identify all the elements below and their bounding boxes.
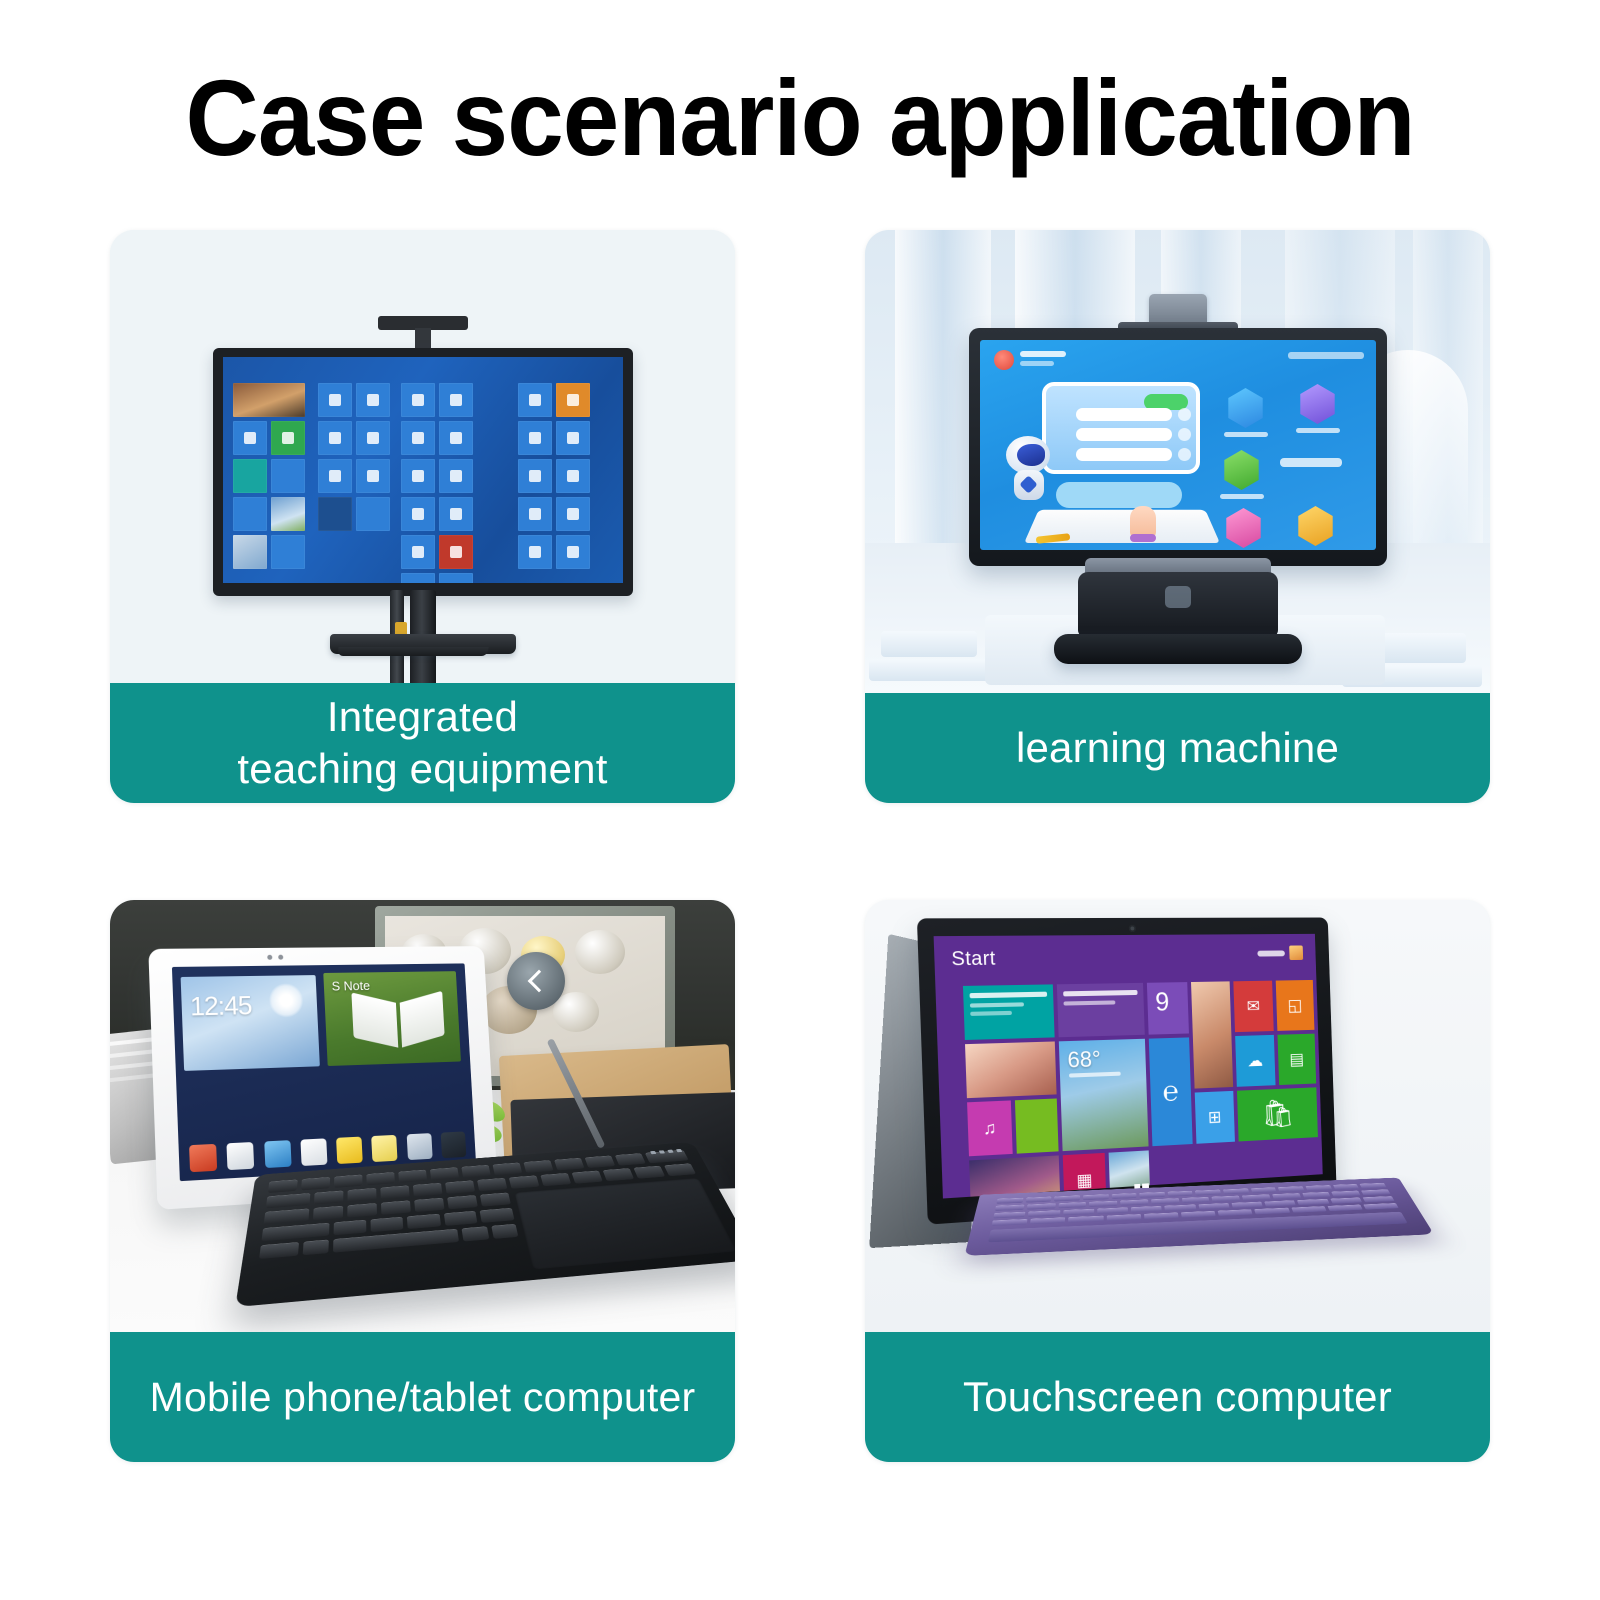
tile — [518, 383, 552, 417]
photo-learning-machine — [865, 230, 1490, 693]
pebble-decor — [575, 930, 625, 974]
tile — [401, 497, 435, 531]
tile-app: ⊞ — [1194, 1091, 1235, 1144]
tile-app — [1014, 1098, 1058, 1153]
astronaut-mascot-icon — [1000, 436, 1058, 506]
caption-mobile-phone-tablet-computer: Mobile phone/tablet computer — [110, 1332, 735, 1462]
tile — [271, 421, 305, 455]
pebble-decor — [553, 992, 599, 1032]
tile — [318, 497, 352, 531]
tile-photos — [1191, 981, 1234, 1088]
tile — [518, 421, 552, 455]
app-icon — [264, 1140, 291, 1168]
learning-machine-device — [969, 328, 1387, 566]
tile — [318, 459, 352, 493]
tile-internet-explorer: ℮ — [1149, 1037, 1192, 1146]
front-camera-icon — [1129, 925, 1136, 932]
quiz-option — [1076, 408, 1172, 421]
scene-teaching-display — [110, 230, 735, 683]
trackpad — [514, 1177, 735, 1269]
quiz-option — [1076, 428, 1172, 441]
tile-group-1 — [233, 383, 309, 571]
tile — [318, 421, 352, 455]
user-name-placeholder — [1257, 950, 1285, 956]
app-icon — [406, 1133, 432, 1160]
tile — [439, 497, 473, 531]
photo-mobile-phone-tablet-computer: 12:45 S Note — [110, 900, 735, 1332]
tile-app: ♫ — [967, 1100, 1012, 1156]
app-icon — [189, 1144, 217, 1172]
tile-calendar: 9 — [1147, 982, 1189, 1035]
caption-line-1: learning machine — [1016, 722, 1339, 774]
caption-line-1: Mobile phone/tablet computer — [150, 1371, 696, 1423]
photo-touchscreen-computer: Start — [865, 900, 1490, 1332]
app-icon — [441, 1131, 467, 1158]
stand-foot — [1054, 634, 1302, 664]
tile — [233, 421, 267, 455]
tile-store: 🛍 — [1237, 1087, 1318, 1141]
tile — [356, 383, 390, 417]
tile-group-3 — [401, 383, 509, 571]
caption-line-1: Integrated — [237, 691, 607, 743]
s-note-widget: S Note — [323, 971, 461, 1066]
user-subtitle-placeholder — [1020, 361, 1054, 366]
tile — [233, 535, 267, 569]
scene-tablet-keyboard: 12:45 S Note — [110, 900, 735, 1332]
app-label-placeholder — [1220, 494, 1264, 499]
card-mobile-phone-tablet-computer[interactable]: 12:45 S Note — [110, 900, 735, 1462]
tile-onedrive: ☁ — [1235, 1035, 1275, 1087]
caption-integrated-teaching-equipment: Integrated teaching equipment — [110, 683, 735, 803]
tile — [518, 459, 552, 493]
tile — [518, 497, 552, 531]
tile — [556, 497, 590, 531]
cart-shelf — [330, 634, 516, 654]
app-hex-icon — [1296, 506, 1336, 546]
tablet-screen: 12:45 S Note — [172, 963, 476, 1181]
tile — [271, 497, 305, 531]
tile — [233, 383, 305, 417]
user-avatar — [994, 350, 1014, 370]
photo-integrated-teaching-equipment — [110, 230, 735, 683]
tile-app: ▤ — [1277, 1034, 1316, 1085]
s-note-label: S Note — [331, 978, 370, 993]
front-camera-icon — [267, 955, 291, 960]
app-label-placeholder — [1224, 432, 1268, 437]
tile-grid — [233, 383, 615, 571]
display-screen — [223, 357, 623, 583]
page-title: Case scenario application — [48, 58, 1552, 178]
app-hex-icon — [1222, 450, 1262, 490]
tile — [401, 573, 435, 583]
app-hex-icon — [1224, 508, 1264, 548]
tile — [518, 535, 552, 569]
surface-tablet-device: Start — [917, 918, 1337, 1225]
app-label-placeholder — [1296, 428, 1340, 433]
tile — [401, 383, 435, 417]
tile — [356, 459, 390, 493]
sun-icon — [268, 983, 303, 1018]
tile — [439, 535, 473, 569]
section-title-placeholder — [1280, 458, 1342, 467]
tile — [439, 383, 473, 417]
keyboard-left-keys — [254, 1193, 525, 1295]
status-bar-placeholder — [1288, 352, 1364, 359]
tile — [271, 535, 305, 569]
tile — [401, 535, 435, 569]
tile-news — [963, 984, 1055, 1040]
quiz-option — [1076, 448, 1172, 461]
user-account-area — [1257, 945, 1303, 960]
tile — [439, 421, 473, 455]
tile — [356, 421, 390, 455]
case-scenario-page: Case scenario application — [0, 0, 1600, 1600]
tile-people — [965, 1041, 1057, 1098]
flat-panel-display — [213, 348, 633, 596]
quiz-card — [1042, 382, 1200, 474]
app-icon — [336, 1137, 363, 1164]
scene-surface-tablet: Start — [865, 900, 1490, 1332]
avatar — [1289, 945, 1303, 960]
app-icon — [227, 1142, 255, 1170]
tile — [401, 459, 435, 493]
start-screen-title: Start — [951, 948, 996, 971]
tile — [556, 459, 590, 493]
clock-time: 12:45 — [189, 990, 252, 1023]
card-touchscreen-computer[interactable]: Start — [865, 900, 1490, 1462]
tile — [318, 383, 352, 417]
tile-app: ✉ — [1233, 981, 1273, 1032]
tile — [271, 459, 305, 493]
tile-app: ◱ — [1275, 980, 1314, 1031]
calendar-day: 9 — [1155, 986, 1170, 1017]
caption-touchscreen-computer: Touchscreen computer — [865, 1332, 1490, 1462]
scene-learning-machine — [865, 230, 1490, 693]
open-book-icon — [352, 996, 445, 1045]
user-name-placeholder — [1020, 351, 1066, 357]
tile-group-4 — [518, 383, 610, 571]
tile-mail — [1057, 983, 1145, 1037]
tile — [439, 459, 473, 493]
live-tile-grid: 9 ✉ ◱ 68° ℮ ☁ ▤ — [963, 980, 1319, 1189]
tile — [439, 573, 473, 583]
caption-line-1: Touchscreen computer — [963, 1371, 1392, 1423]
app-hex-icon — [1226, 388, 1266, 428]
tile-group-2 — [318, 383, 392, 571]
chevron-left-icon — [507, 952, 565, 1010]
learning-machine-screen — [980, 340, 1376, 550]
surface-screen: Start — [934, 934, 1323, 1199]
weather-temperature: 68° — [1067, 1046, 1101, 1073]
tile — [401, 421, 435, 455]
hand-illustration — [1130, 506, 1156, 538]
prop-block — [881, 631, 977, 657]
app-icon — [372, 1135, 398, 1162]
card-learning-machine[interactable]: learning machine — [865, 230, 1490, 803]
tile — [233, 497, 267, 531]
speech-bubble — [1056, 482, 1182, 508]
tile — [356, 497, 390, 531]
tile-weather: 68° — [1059, 1039, 1149, 1151]
card-integrated-teaching-equipment[interactable]: Integrated teaching equipment — [110, 230, 735, 803]
tile — [556, 383, 590, 417]
weather-clock-widget: 12:45 — [181, 975, 320, 1071]
caption-learning-machine: learning machine — [865, 693, 1490, 803]
prop-block — [869, 659, 999, 681]
tile — [556, 535, 590, 569]
app-hex-icon — [1298, 384, 1338, 424]
tile — [233, 459, 267, 493]
caption-line-2: teaching equipment — [237, 743, 607, 795]
app-icon — [300, 1138, 327, 1166]
tile — [556, 421, 590, 455]
